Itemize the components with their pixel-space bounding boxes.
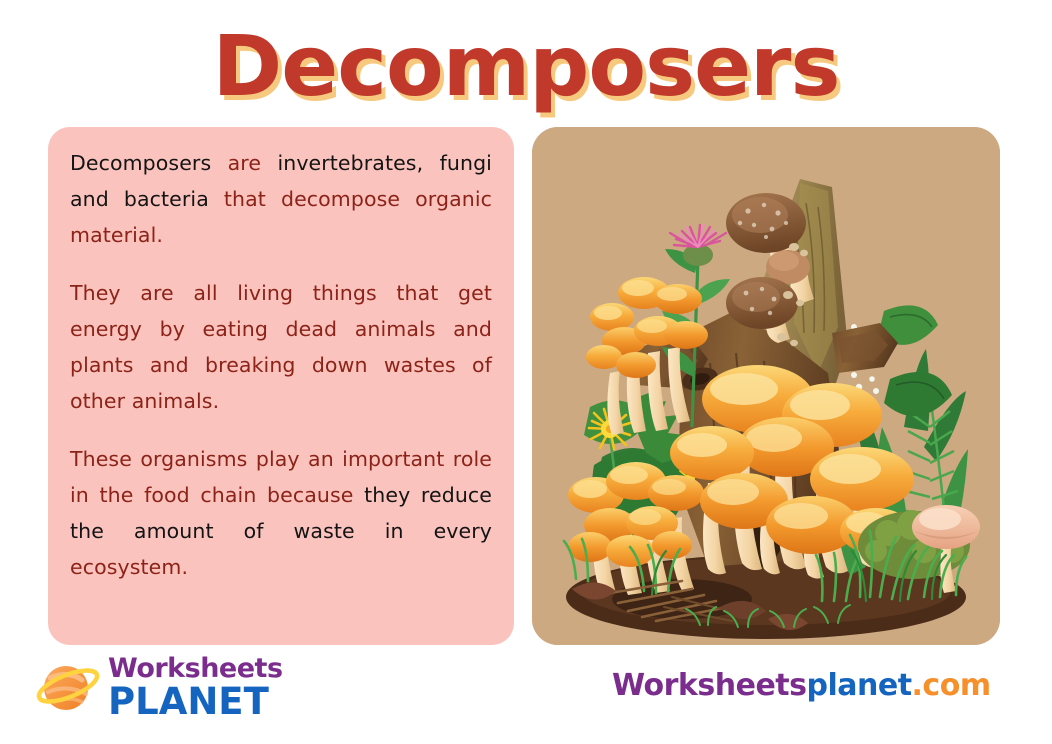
saturn-planet-icon — [36, 654, 102, 720]
worksheets-planet-logo[interactable]: Worksheets PLANET — [36, 652, 286, 722]
url-part-worksheets: Worksheets — [612, 668, 806, 703]
url-part-tld: .com — [912, 668, 991, 703]
url-part-planet: planet — [806, 668, 911, 703]
worksheet-page: Decomposers Decomposers are invertebrate… — [0, 0, 1052, 744]
logo-wordmark: Worksheets PLANET — [108, 655, 283, 720]
illustration-card — [532, 127, 1000, 645]
p1-run-2: are — [228, 151, 278, 175]
page-title: Decomposers — [213, 24, 840, 108]
p2-run-1: They are all living things that get ener… — [70, 281, 492, 413]
logo-planet-text: PLANET — [108, 683, 283, 720]
logo-worksheets-text: Worksheets — [108, 655, 283, 682]
website-url[interactable]: Worksheetsplanet.com — [612, 668, 991, 703]
description-card: Decomposers are invertebrates, fungi and… — [48, 127, 514, 645]
p3-run-3: ecosystem. — [70, 555, 188, 579]
paragraph-2: They are all living things that get ener… — [70, 275, 492, 419]
paragraph-1: Decomposers are invertebrates, fungi and… — [70, 145, 492, 253]
decomposers-illustration — [532, 127, 1000, 645]
page-title-container: Decomposers — [0, 24, 1052, 108]
p1-run-1: Decomposers — [70, 151, 228, 175]
paragraph-3: These organisms play an important role i… — [70, 441, 492, 585]
